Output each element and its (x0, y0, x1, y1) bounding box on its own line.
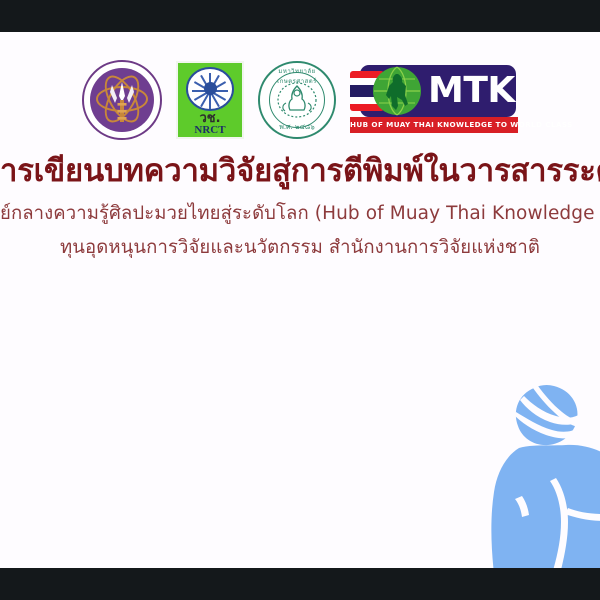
muay-thai-boxer-silhouette-icon (464, 368, 600, 568)
mtk-tagline-banner: HUB OF MUAY THAI KNOWLEDGE TO WORLD CLAS… (350, 117, 518, 133)
srinakharinwirot-university-logo-icon (82, 60, 162, 140)
slide-root: วช. NRCT มหาวิทยาลัยเกษตรศาสตร์ พ.ศ. ๒๔๘… (0, 0, 600, 600)
letterbox-bottom-bar (0, 568, 600, 600)
page-title: ารเขียนบทความวิจัยสู่การตีพิมพ์ในวารสารร… (0, 152, 600, 191)
letterbox-top-bar (0, 0, 600, 32)
mtk-logo-icon: MTK HUB OF MUAY THAI KNOWLEDGE TO WORLD … (350, 63, 518, 137)
kasetsart-university-seal-icon: มหาวิทยาลัยเกษตรศาสตร์ พ.ศ. ๒๔๘๖ (258, 61, 336, 139)
slide-canvas: วช. NRCT มหาวิทยาลัยเกษตรศาสตร์ พ.ศ. ๒๔๘… (0, 32, 600, 568)
nrct-english-abbrev: NRCT (194, 125, 225, 137)
nrct-wheel-icon (186, 67, 234, 111)
ku-arc-bottom-text: พ.ศ. ๒๔๘๖ (260, 122, 334, 133)
swu-trident-icon (105, 76, 139, 126)
slide-subtitle: ย์กลางความรู้ศิลปะมวยไทยสู่ระดับโลก (Hub… (0, 202, 600, 227)
slide-funder-line: ทุนอุดหนุนการวิจัยและนวัตกรรม สำนักงานกา… (0, 236, 600, 261)
nrct-logo-icon: วช. NRCT (176, 61, 244, 139)
logo-strip: วช. NRCT มหาวิทยาลัยเกษตรศาสตร์ พ.ศ. ๒๔๘… (0, 58, 600, 142)
headline-block: ารเขียนบทความวิจัยสู่การตีพิมพ์ในวารสารร… (0, 152, 600, 261)
mtk-wordmark: MTK (428, 67, 514, 115)
ku-phra-pirun-motif-icon (276, 81, 318, 119)
mtk-globe-icon (372, 66, 422, 116)
nrct-thai-abbrev: วช. (199, 112, 220, 126)
